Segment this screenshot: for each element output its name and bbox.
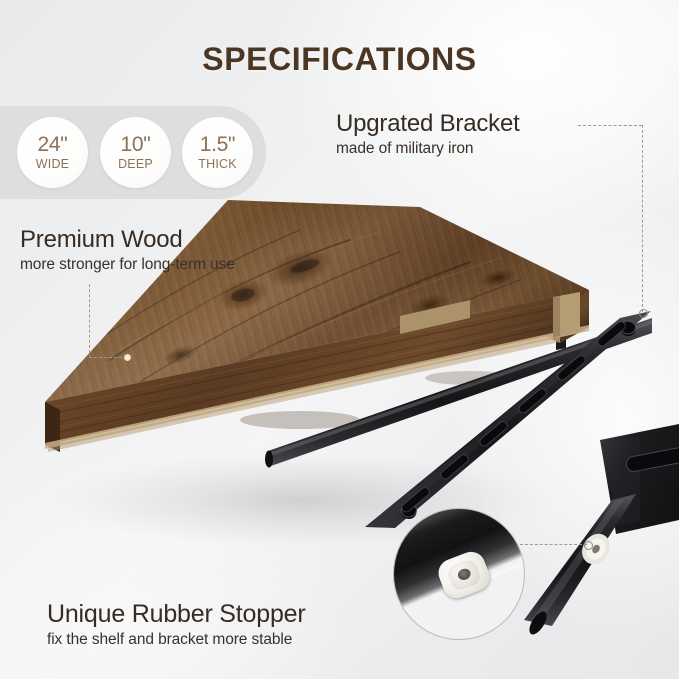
- rubber-stopper-closeup: [393, 508, 525, 640]
- callout-stopper: Unique Rubber Stopper fix the shelf and …: [47, 600, 305, 649]
- callout-wood-heading: Premium Wood: [20, 226, 235, 254]
- leader-line-bracket-horizontal: [578, 125, 642, 126]
- callout-stopper-subtext: fix the shelf and bracket more stable: [47, 631, 305, 649]
- leader-line-wood-horizontal: [89, 357, 127, 358]
- callout-stopper-heading: Unique Rubber Stopper: [47, 600, 305, 629]
- callout-bracket: Upgrated Bracket made of military iron: [336, 110, 520, 158]
- callout-wood-subtext: more stronger for long-term use: [20, 256, 235, 274]
- callout-bracket-subtext: made of military iron: [336, 140, 520, 158]
- leader-endpoint-bracket: [639, 309, 648, 318]
- callout-bracket-heading: Upgrated Bracket: [336, 110, 520, 138]
- leader-line-wood-vertical: [89, 284, 90, 358]
- leader-endpoint-stopper: [584, 541, 593, 550]
- bracket-secondary: [524, 424, 679, 637]
- callout-wood: Premium Wood more stronger for long-term…: [20, 226, 235, 274]
- product-spec-infographic: SPECIFICATIONS 24" WIDE 10" DEEP 1.5" TH…: [0, 0, 679, 679]
- leader-line-stopper-horizontal: [520, 544, 587, 545]
- product-illustration: [0, 0, 679, 679]
- leader-endpoint-wood: [124, 354, 131, 361]
- leader-line-bracket-vertical: [642, 125, 643, 312]
